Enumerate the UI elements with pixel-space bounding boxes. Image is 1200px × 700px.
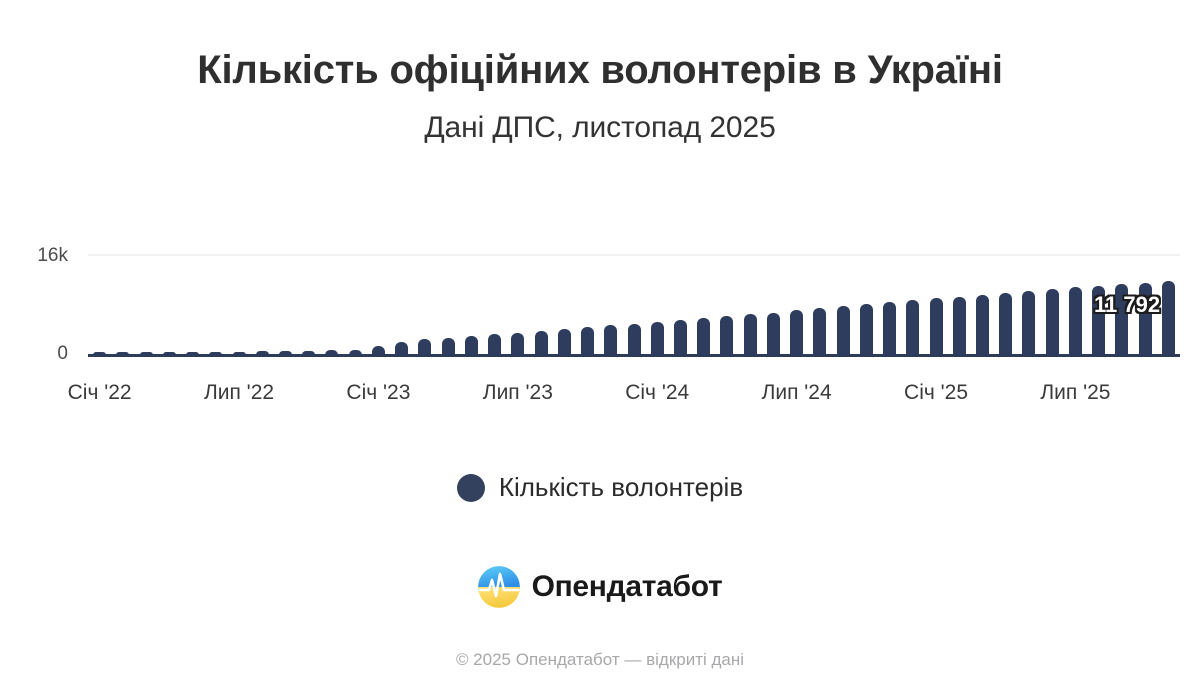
y-axis-tick-top: 16k <box>22 245 68 267</box>
bar <box>976 295 989 355</box>
bar <box>767 313 780 356</box>
bar <box>1022 291 1035 355</box>
legend-swatch-icon <box>457 474 485 502</box>
brand-block: Опендатабот <box>0 566 1200 608</box>
bar <box>837 306 850 355</box>
title-block: Кількість офіційних волонтерів в Україні… <box>0 44 1200 145</box>
x-axis-tick: Лип '22 <box>204 381 274 405</box>
bar <box>883 302 896 355</box>
bar <box>628 324 641 355</box>
x-axis-tick: Лип '25 <box>1040 381 1110 405</box>
x-axis-tick: Січ '23 <box>346 381 410 405</box>
bar <box>442 338 455 356</box>
bar <box>1046 289 1059 355</box>
page-title: Кількість офіційних волонтерів в Україні <box>185 44 1015 97</box>
bar <box>558 329 571 355</box>
data-value-label: 11 792 <box>1094 292 1160 318</box>
footer-copyright: © 2025 Опендатабот — відкриті дані <box>0 650 1200 670</box>
bar <box>581 327 594 355</box>
x-axis-labels: Січ '22Лип '22Січ '23Лип '23Січ '24Лип '… <box>88 381 1180 411</box>
y-axis-tick-zero: 0 <box>22 343 68 365</box>
bar <box>744 314 757 355</box>
bar <box>651 322 664 355</box>
bar <box>953 297 966 355</box>
bar <box>813 308 826 355</box>
bar <box>999 293 1012 355</box>
x-axis-tick: Січ '25 <box>904 381 968 405</box>
bar <box>511 333 524 356</box>
chart-subtitle: Дані ДПС, листопад 2025 <box>0 111 1200 145</box>
x-axis-tick: Січ '22 <box>68 381 132 405</box>
bar <box>1162 281 1175 355</box>
bar <box>674 320 687 355</box>
bar <box>697 318 710 355</box>
brand-name: Опендатабот <box>532 570 723 604</box>
bar <box>930 298 943 355</box>
x-axis-tick: Лип '24 <box>762 381 832 405</box>
bar-series <box>88 238 1180 355</box>
chart-page: Кількість офіційних волонтерів в Україні… <box>0 0 1200 700</box>
opendatabot-pulse-icon <box>478 566 520 608</box>
x-axis-tick: Січ '24 <box>625 381 689 405</box>
plot-area: 16k 0 11 792 Січ '22Лип '22Січ '23Лип '2… <box>0 238 1200 368</box>
bar <box>860 304 873 355</box>
bar <box>604 325 617 355</box>
bar <box>418 339 431 355</box>
bar <box>488 334 501 355</box>
chart-legend: Кількість волонтерів <box>0 472 1200 503</box>
bar <box>465 336 478 355</box>
legend-item-label: Кількість волонтерів <box>499 472 743 503</box>
bar <box>790 310 803 355</box>
x-axis-line <box>88 354 1180 357</box>
bar <box>535 331 548 355</box>
bar <box>906 300 919 355</box>
bar <box>720 316 733 355</box>
bar <box>1069 287 1082 355</box>
x-axis-tick: Лип '23 <box>483 381 553 405</box>
